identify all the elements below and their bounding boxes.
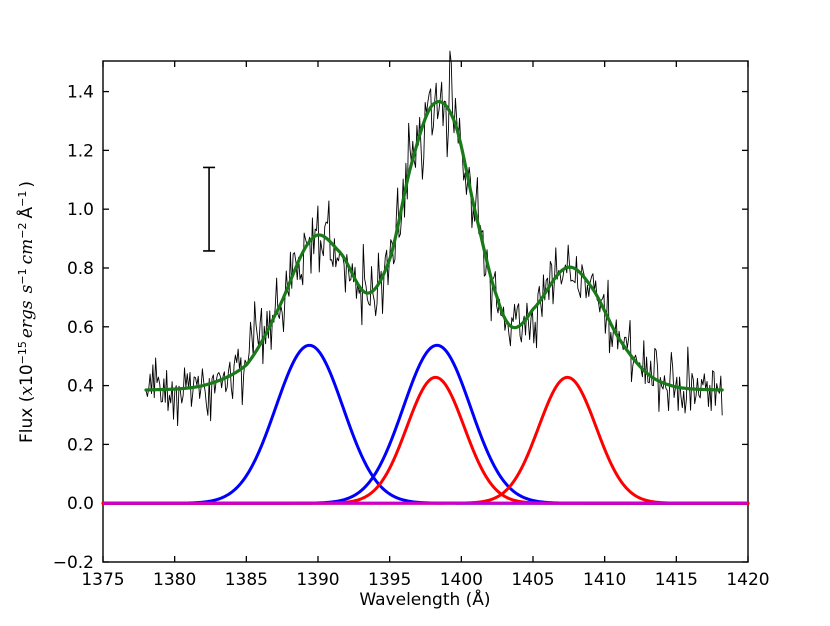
y-title-exp1: −15	[16, 341, 29, 364]
y-title-s: s	[17, 284, 37, 293]
y-title-x-symbol: x	[17, 386, 37, 396]
y-title-base: 10	[17, 364, 37, 386]
y-tick-label: 1.0	[67, 200, 94, 220]
x-tick-label: 1420	[726, 570, 769, 590]
y-title-exp4: −1	[16, 191, 29, 207]
x-tick-label: 1380	[153, 570, 196, 590]
plot-canvas: 1375138013851390139514001405141014151420…	[0, 0, 830, 626]
x-tick-label: 1415	[655, 570, 698, 590]
x-tick-label: 1375	[81, 570, 124, 590]
y-tick-label: 0.8	[67, 259, 94, 279]
y-title-suffix: )	[17, 181, 37, 188]
y-tick-label: 0.0	[67, 494, 94, 514]
y-tick-label: 0.4	[67, 377, 94, 397]
y-title-exp2: −1	[16, 268, 29, 284]
x-tick-label: 1400	[440, 570, 483, 590]
y-tick-label: −0.2	[53, 553, 94, 573]
x-tick-label: 1395	[368, 570, 411, 590]
y-tick-label: 1.4	[67, 83, 94, 103]
axes-frame	[103, 61, 748, 562]
y-title-prefix: Flux (	[17, 396, 37, 443]
x-tick-label: 1410	[583, 570, 626, 590]
y-tick-label: 0.6	[67, 318, 94, 338]
y-tick-label: 0.2	[67, 435, 94, 455]
y-title-cm: cm	[17, 239, 37, 265]
x-tick-label: 1390	[296, 570, 339, 590]
y-title-ergs: ergs	[17, 300, 37, 338]
y-title-exp3: −2	[16, 223, 29, 239]
spectrum-figure: 1375138013851390139514001405141014151420…	[0, 0, 830, 626]
y-title-angstrom: Å	[15, 207, 37, 219]
x-tick-label: 1405	[511, 570, 554, 590]
y-tick-label: 1.2	[67, 141, 94, 161]
x-tick-label: 1385	[225, 570, 268, 590]
x-axis-title: Wavelength (Å)	[359, 588, 490, 610]
